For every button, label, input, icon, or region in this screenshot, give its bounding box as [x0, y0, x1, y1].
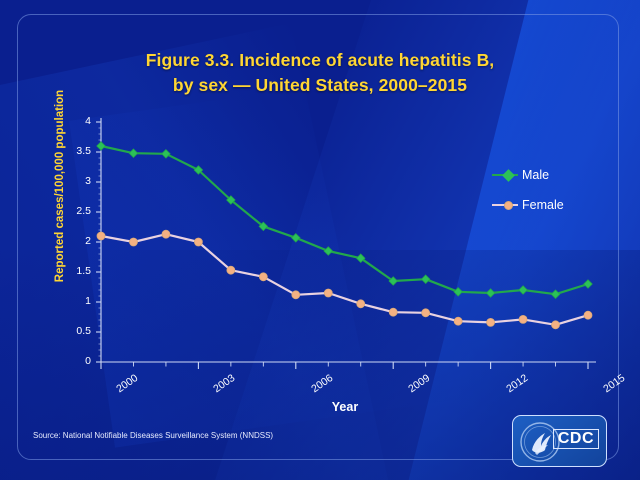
data-point-female: [324, 289, 332, 297]
data-point-female: [389, 308, 397, 316]
legend-marker-diamond-icon: [502, 169, 515, 182]
legend-item-female[interactable]: Female: [492, 198, 564, 212]
data-point-female: [227, 266, 235, 274]
data-point-female: [129, 238, 137, 246]
data-point-female: [292, 291, 300, 299]
data-point-male: [584, 280, 592, 288]
y-axis-title: Reported cases/100,000 population: [54, 66, 66, 306]
data-point-male: [519, 286, 527, 294]
data-point-male: [129, 149, 137, 157]
data-point-female: [97, 232, 105, 240]
data-point-male: [292, 234, 300, 242]
data-point-male: [454, 288, 462, 296]
y-axis-tick-label: 0: [55, 355, 91, 367]
legend-marker-circle-icon: [504, 201, 513, 210]
data-point-female: [422, 309, 430, 317]
line-chart: 00.511.522.533.5420002003200620092012201…: [0, 0, 640, 480]
cdc-wordmark: CDC: [553, 429, 599, 449]
data-point-female: [162, 230, 170, 238]
data-point-female: [584, 311, 592, 319]
slide-canvas: Figure 3.3. Incidence of acute hepatitis…: [0, 0, 640, 480]
legend-label: Male: [522, 168, 549, 182]
data-point-female: [552, 321, 560, 329]
series-line-female: [101, 234, 588, 325]
data-point-female: [194, 238, 202, 246]
data-point-male: [421, 275, 429, 283]
data-point-female: [519, 315, 527, 323]
data-point-male: [162, 150, 170, 158]
source-note: Source: National Notifiable Diseases Sur…: [33, 431, 273, 440]
data-point-female: [454, 317, 462, 325]
data-point-female: [487, 318, 495, 326]
x-axis-title: Year: [100, 400, 590, 414]
data-point-male: [486, 289, 494, 297]
legend-item-male[interactable]: Male: [492, 168, 549, 182]
legend-label: Female: [522, 198, 564, 212]
cdc-logo: CDC: [512, 415, 607, 467]
data-point-male: [324, 247, 332, 255]
data-point-male: [97, 142, 105, 150]
y-axis-tick-label: 0.5: [55, 325, 91, 337]
data-point-female: [357, 300, 365, 308]
data-point-male: [551, 290, 559, 298]
data-point-female: [259, 273, 267, 281]
